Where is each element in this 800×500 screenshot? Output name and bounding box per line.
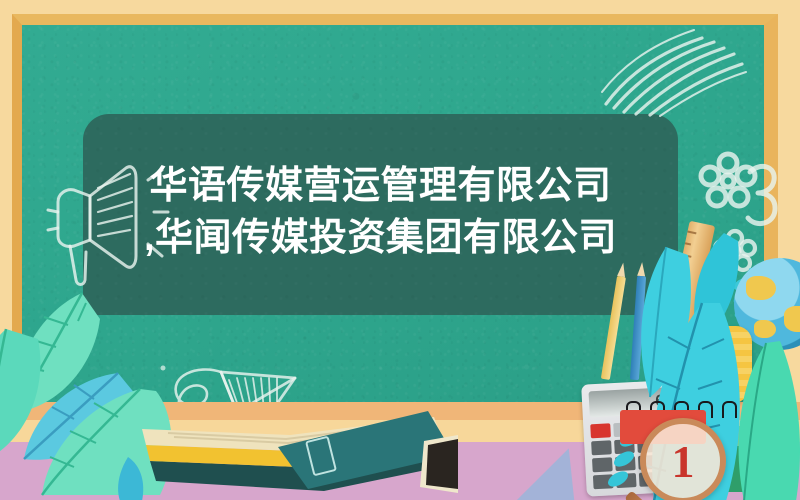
headline-line-2: ,华闻传媒投资集团有限公司 [83, 212, 678, 264]
magnifying-glass-icon: 1 [640, 418, 726, 500]
banner-image: School Supplies 64 1 [0, 0, 800, 500]
stacked-books-icon [128, 389, 458, 500]
triangle-ruler-icon [497, 448, 575, 500]
page-title: 华语传媒营运管理有限公司 ,华闻传媒投资集团有限公司 [83, 160, 678, 264]
magnified-number: 1 [640, 418, 726, 500]
headline-line-1: 华语传媒营运管理有限公司 [83, 160, 678, 212]
